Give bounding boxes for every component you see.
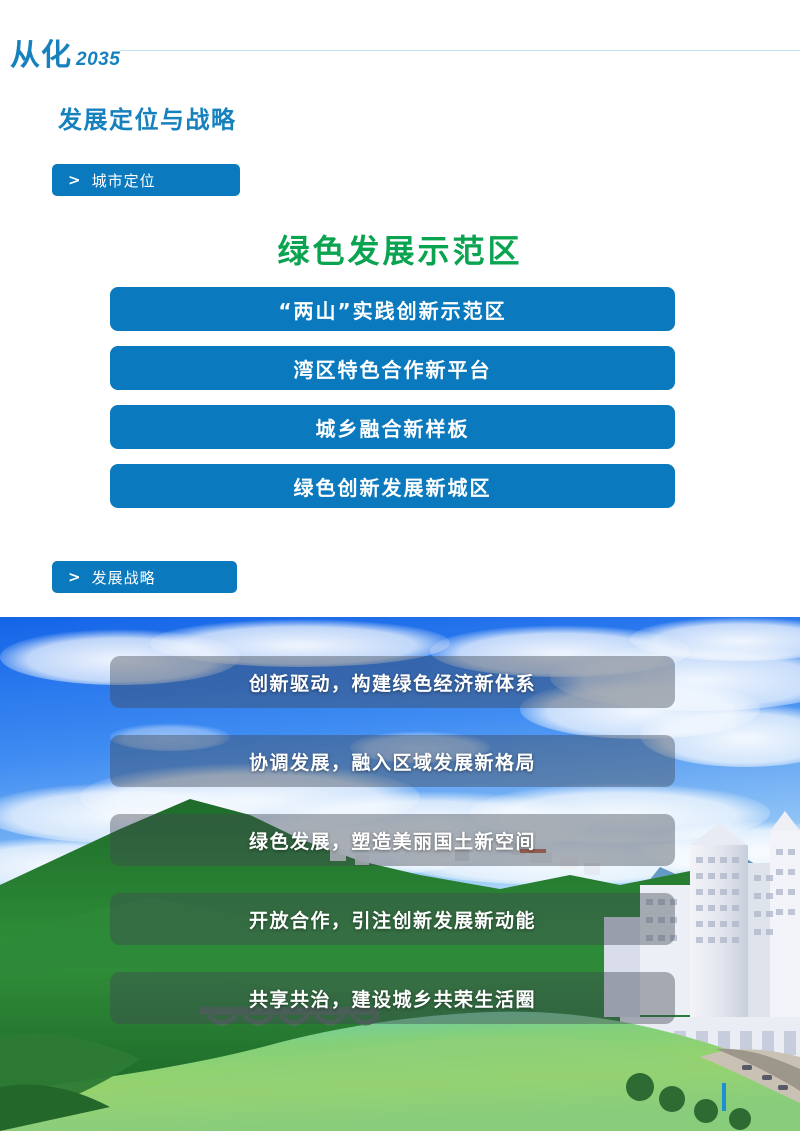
logo: 从化 2035	[10, 30, 120, 74]
page-title: 发展定位与战略	[58, 100, 237, 135]
section-tab-city-positioning[interactable]: > 城市定位	[52, 164, 240, 196]
section-tab-label: 发展战略	[92, 567, 156, 588]
section-tab-label: 城市定位	[92, 170, 156, 191]
strategy-item[interactable]: 开放合作，引注创新发展新动能	[110, 893, 675, 945]
strategy-item[interactable]: 绿色发展，塑造美丽国土新空间	[110, 814, 675, 866]
green-headline: 绿色发展示范区	[0, 226, 800, 272]
header-divider	[120, 50, 800, 51]
logo-text-cn: 从化	[10, 30, 72, 74]
logo-text-year: 2035	[76, 49, 120, 71]
strategy-item[interactable]: 共享共治，建设城乡共荣生活圈	[110, 972, 675, 1024]
positioning-card[interactable]: 城乡融合新样板	[110, 405, 675, 449]
positioning-card[interactable]: 湾区特色合作新平台	[110, 346, 675, 390]
chevron-right-icon: >	[68, 171, 82, 189]
section-tab-development-strategy[interactable]: > 发展战略	[52, 561, 237, 593]
strategy-item[interactable]: 创新驱动，构建绿色经济新体系	[110, 656, 675, 708]
positioning-card-list: “两山”实践创新示范区 湾区特色合作新平台 城乡融合新样板 绿色创新发展新城区	[110, 287, 675, 523]
positioning-card[interactable]: 绿色创新发展新城区	[110, 464, 675, 508]
strategy-item[interactable]: 协调发展，融入区域发展新格局	[110, 735, 675, 787]
strategy-item-list: 创新驱动，构建绿色经济新体系 协调发展，融入区域发展新格局 绿色发展，塑造美丽国…	[110, 656, 675, 1051]
page-header: 从化 2035	[0, 0, 800, 70]
positioning-card[interactable]: “两山”实践创新示范区	[110, 287, 675, 331]
chevron-right-icon: >	[68, 568, 82, 586]
